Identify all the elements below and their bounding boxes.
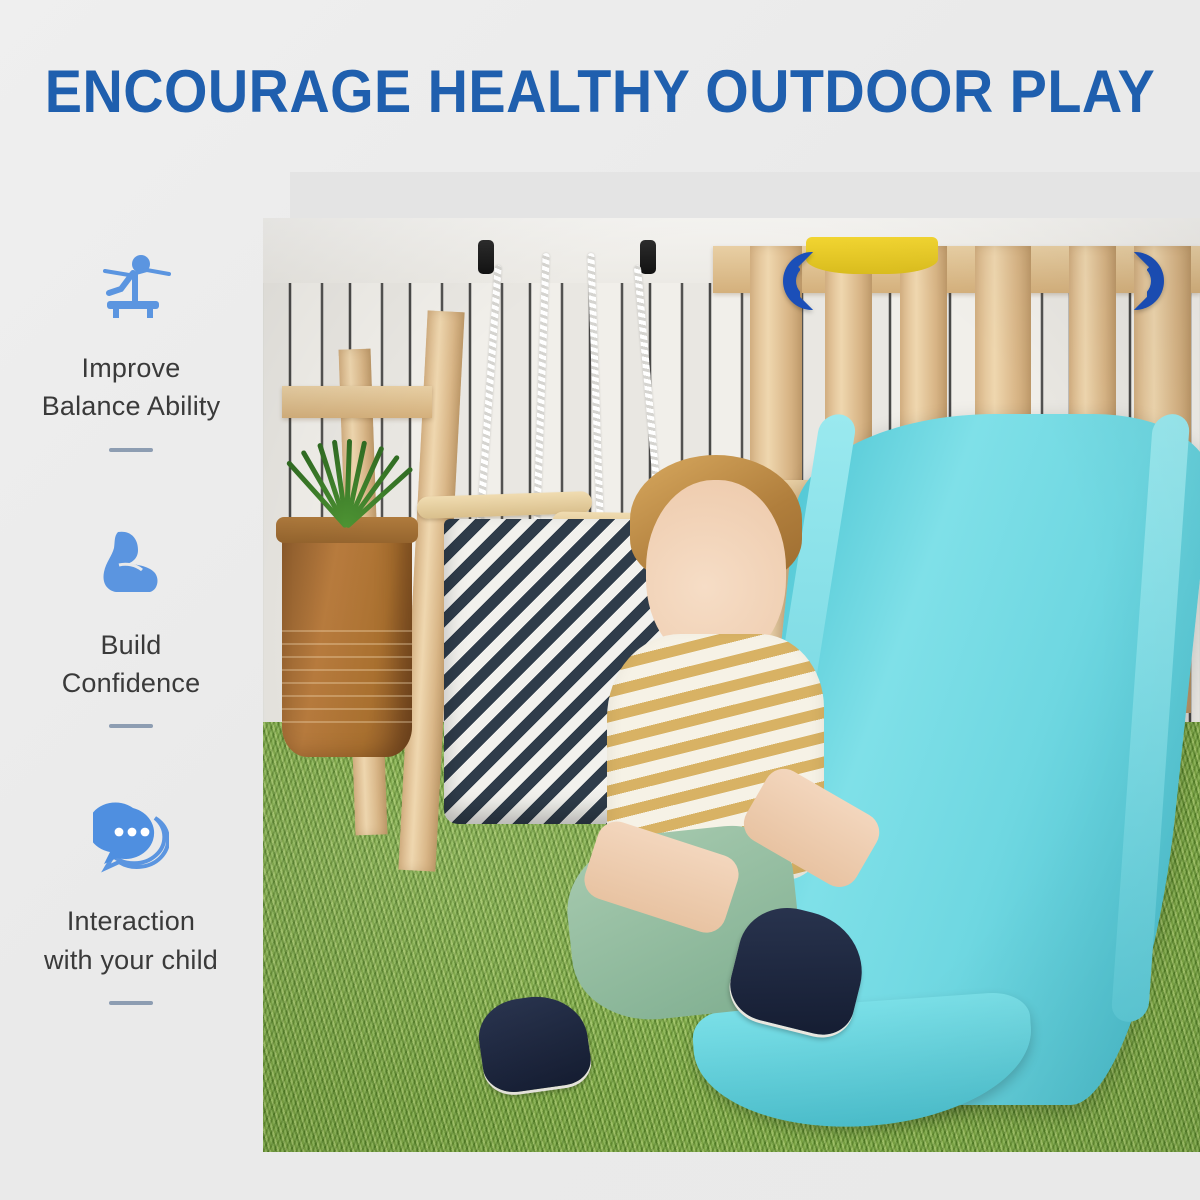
page-title: ENCOURAGE HEALTHY OUTDOOR PLAY: [42, 60, 1158, 123]
feature-label-interaction: Interaction with your child: [0, 902, 262, 979]
flexed-bicep-icon: [0, 524, 262, 600]
product-photo: [263, 218, 1200, 1152]
potted-plant: [282, 431, 412, 527]
feature-item-balance: Improve Balance Ability: [0, 247, 262, 452]
promo-poster: ENCOURAGE HEALTHY OUTDOOR PLAY Improve B…: [0, 0, 1200, 1200]
plant-pot: [282, 517, 412, 757]
feature-label-confidence: Build Confidence: [0, 626, 262, 703]
chat-bubble-icon: [0, 800, 262, 876]
feature-divider: [109, 448, 153, 452]
child-subject: [563, 480, 882, 1096]
feature-divider: [109, 1001, 153, 1005]
feature-item-confidence: Build Confidence: [0, 524, 262, 729]
feature-label-balance: Improve Balance Ability: [0, 349, 262, 426]
feature-sidebar: Improve Balance Ability Build Confidence: [0, 225, 262, 1155]
photo-scene: [263, 218, 1200, 1152]
rope-clip: [478, 240, 494, 274]
feature-divider: [109, 724, 153, 728]
balance-beam-icon: [0, 247, 262, 323]
rope-clip: [640, 240, 656, 274]
yellow-canopy-edge: [806, 237, 937, 274]
feature-item-interaction: Interaction with your child: [0, 800, 262, 1005]
swing-rope: [534, 253, 550, 520]
